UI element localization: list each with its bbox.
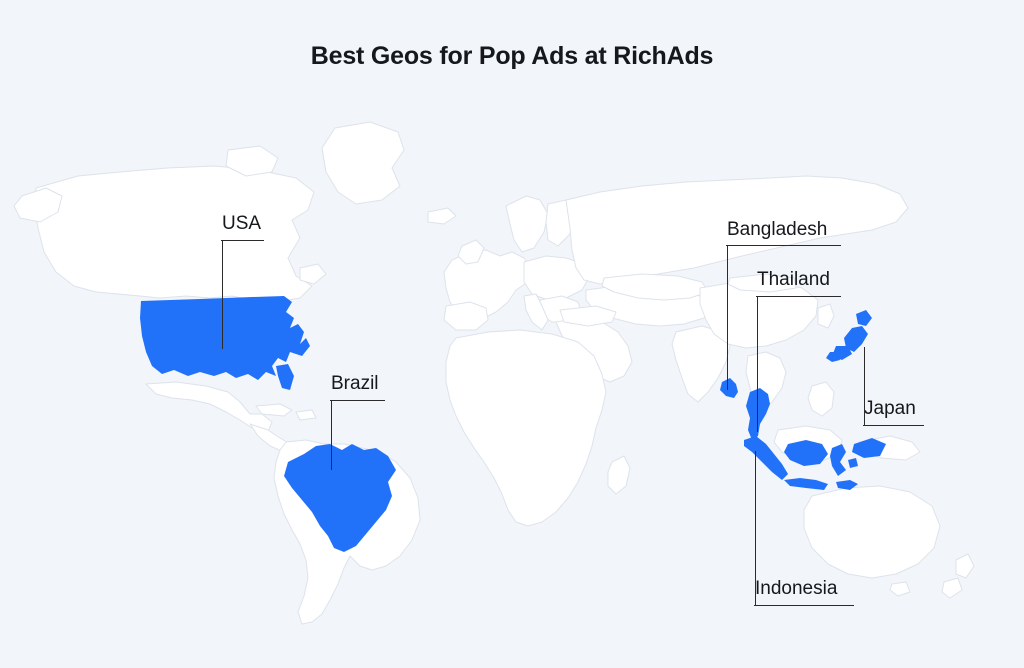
leader-line-bangladesh — [727, 245, 728, 390]
map-label-usa[interactable]: USA — [222, 213, 261, 235]
leader-line-brazil — [331, 400, 332, 470]
leader-underline-brazil — [330, 400, 385, 401]
infographic-root: Best Geos for Pop Ads at RichAds — [0, 0, 1024, 668]
leader-line-usa — [222, 240, 223, 349]
map-label-bangladesh[interactable]: Bangladesh — [727, 219, 827, 241]
leader-line-thailand — [757, 296, 758, 432]
annotation-layer: USA Brazil Bangladesh Thailand Japan Ind… — [0, 0, 1024, 668]
leader-underline-indonesia — [754, 605, 854, 606]
map-label-indonesia[interactable]: Indonesia — [755, 578, 837, 600]
map-label-brazil[interactable]: Brazil — [331, 373, 379, 395]
leader-line-indonesia — [755, 451, 756, 605]
leader-underline-thailand — [756, 296, 841, 297]
map-label-japan[interactable]: Japan — [864, 398, 916, 420]
leader-underline-japan — [863, 425, 924, 426]
leader-underline-usa — [221, 240, 264, 241]
map-label-thailand[interactable]: Thailand — [757, 269, 830, 291]
leader-underline-bangladesh — [726, 245, 841, 246]
leader-line-japan — [864, 347, 865, 425]
